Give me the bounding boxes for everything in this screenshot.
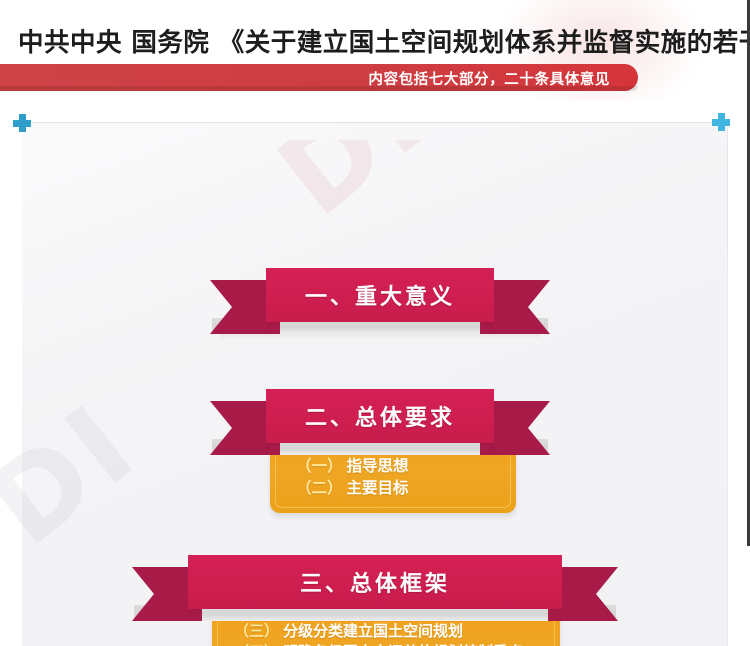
list-item-number: （二） [296,479,343,497]
list-item: （一）指导思想 [296,455,516,477]
list-item-number: （一） [296,457,343,475]
list-item-label: 分级分类建立国土空间规划 [283,622,463,640]
ribbon-band-1: 一、重大意义 [266,268,494,322]
panel-right-divider [727,122,728,646]
ribbon-banner-1: 一、重大意义 [210,268,550,334]
section-block-3: （三）分级分类建立国土空间规划 （四）明确各级国土空间总体规划编制重点 （五）强… [132,555,618,621]
list-item: （三）分级分类建立国土空间规划 [234,621,560,642]
panel-top-divider [22,122,728,123]
list-item-number: （三） [234,622,279,640]
section-items-box-2: （一）指导思想 （二）主要目标 [270,445,516,513]
section-block-2: （一）指导思想 （二）主要目标 二、总体要求 [210,389,550,455]
page-header: 中共中央 国务院 《关于建立国土空间规划体系并监督实施的若干意见》 内容包括七大… [0,0,750,100]
page-title: 中共中央 国务院 《关于建立国土空间规划体系并监督实施的若干意见》 [18,22,750,59]
list-item-label: 指导思想 [347,457,409,475]
section-title-1: 一、重大意义 [305,279,455,311]
plus-marker-left-icon [13,114,31,132]
section-item-list-3: （三）分级分类建立国土空间规划 （四）明确各级国土空间总体规划编制重点 （五）强… [234,621,560,646]
ribbon-band-3: 三、总体框架 [188,555,562,609]
subtitle-bar: 内容包括七大部分，二十条具体意见 [0,64,638,91]
list-item: （四）明确各级国土空间总体规划编制重点 [234,642,560,646]
ribbon-band-2: 二、总体要求 [266,389,494,443]
section-item-list-2: （一）指导思想 （二）主要目标 [296,455,516,499]
ribbon-banner-2: 二、总体要求 [210,389,550,455]
section-title-3: 三、总体框架 [300,566,450,598]
plus-marker-right-icon [712,113,730,131]
section-title-2: 二、总体要求 [305,400,455,432]
list-item: （二）主要目标 [296,477,516,499]
section-block-1: 一、重大意义 [210,268,550,334]
list-item-label: 主要目标 [347,479,409,497]
ribbon-banner-3: 三、总体框架 [132,555,618,621]
content-canvas: DI DI 一、重大意义 （一）指导思想 （二）主要目标 [0,100,750,646]
subtitle-text: 内容包括七大部分，二十条具体意见 [368,68,610,89]
ribbon-shadow-lower-1 [220,334,540,339]
